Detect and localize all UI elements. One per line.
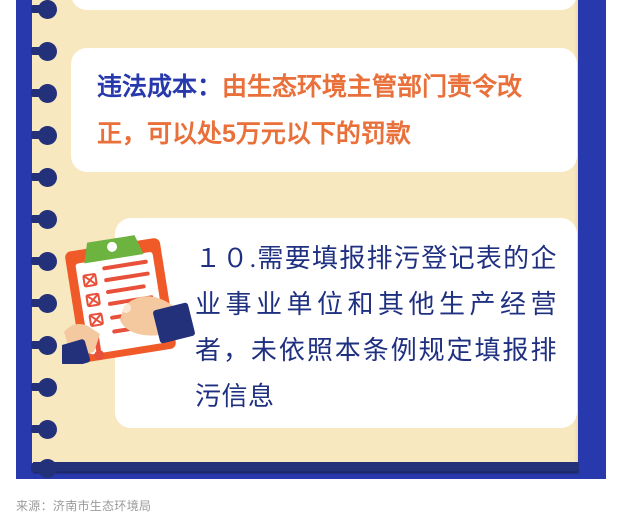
spiral-hole-icon [38,0,57,19]
clipboard-checklist-illustration [62,228,207,364]
spiral-hole-icon [38,378,57,397]
spiral-hole-icon [38,252,57,271]
spiral-hole-icon [38,420,57,439]
source-credit: 来源：济南市生态环境局 [16,497,151,514]
spiral-hole-icon [38,336,57,355]
notepad-bottom-shadow [33,471,579,474]
penalty-line-2: 正，可以处5万元以下的罚款 [97,111,411,158]
spiral-hole-icon [38,42,57,61]
spiral-hole-icon [38,84,57,103]
spiral-hole-icon [38,126,57,145]
spiral-hole-icon [38,168,57,187]
previous-card-sliver [71,0,577,10]
penalty-line-1-rest: 由生态环境主管部门责令改 [222,73,522,101]
infographic-page: 违法成本：由生态环境主管部门责令改 正，可以处5万元以下的罚款 １０.需要填报排… [0,0,622,524]
violation-item-text: １０.需要填报排污登记表的企业事业单位和其他生产经营者，未依照本条例规定填报排污… [195,236,557,420]
clipboard-icon [62,228,207,364]
spiral-hole-icon [38,459,57,478]
spiral-hole-icon [38,294,57,313]
penalty-line-1: 违法成本：由生态环境主管部门责令改 [97,64,557,111]
penalty-cost-card: 违法成本：由生态环境主管部门责令改 正，可以处5万元以下的罚款 [71,48,577,172]
penalty-label: 违法成本： [97,73,222,101]
spiral-hole-icon [38,210,57,229]
